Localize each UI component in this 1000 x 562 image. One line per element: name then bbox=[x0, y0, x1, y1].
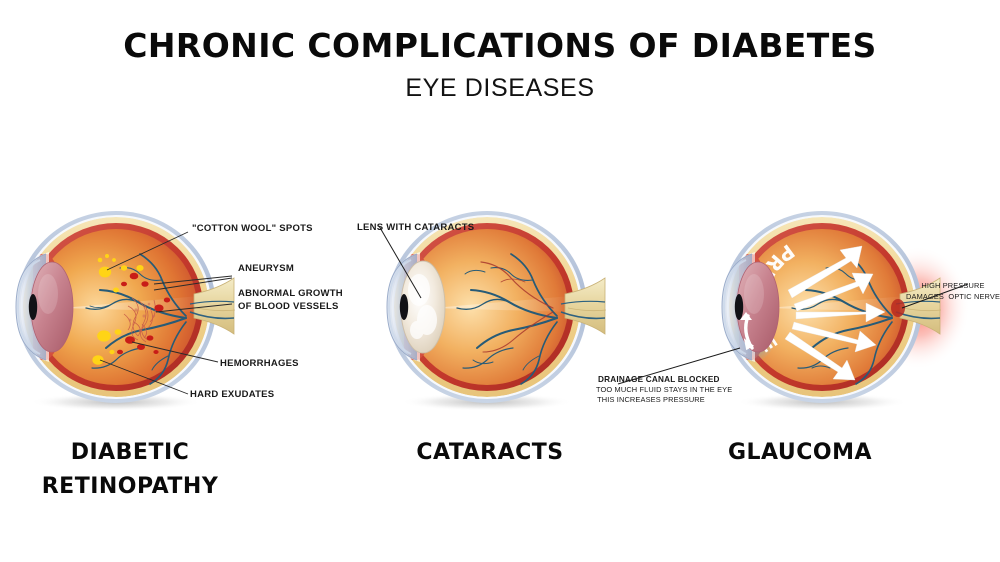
caption-glaucoma: GLAUCOMA bbox=[680, 436, 920, 470]
pupil bbox=[400, 294, 408, 320]
caption-line-1: CATARACTS bbox=[370, 436, 610, 470]
lens-highlight bbox=[38, 274, 58, 314]
caption-line-1: DIABETIC bbox=[10, 436, 250, 470]
label-drainage-detail-line2: THIS INCREASES PRESSURE bbox=[596, 395, 706, 405]
eye-diagram-cataracts bbox=[375, 212, 615, 412]
label-high-pressure-line1: HIGH PRESSURE bbox=[910, 281, 996, 291]
eye-diagram-glaucoma: PRESSURE bbox=[710, 212, 970, 412]
caption-diabetic-retinopathy: DIABETIC RETINOPATHY bbox=[10, 436, 250, 504]
illustration-canvas: CHRONIC COMPLICATIONS OF DIABETES EYE DI… bbox=[0, 0, 1000, 562]
label-lens-with-cataracts: LENS WITH CATARACTS bbox=[357, 222, 474, 235]
caption-line-1: GLAUCOMA bbox=[680, 436, 920, 470]
lens-highlight bbox=[744, 274, 764, 314]
label-high-pressure-line2: DAMAGES OPTIC NERVE bbox=[906, 292, 1000, 302]
label-hemorrhages: HEMORRHAGES bbox=[220, 358, 299, 371]
label-hard-exudates: HARD EXUDATES bbox=[190, 389, 274, 402]
label-aneurysm: ANEURYSM bbox=[238, 263, 294, 276]
label-abnormal-growth-line2: OF BLOOD VESSELS bbox=[238, 301, 339, 314]
pupil bbox=[735, 294, 743, 320]
caption-line-2: RETINOPATHY bbox=[10, 470, 250, 504]
label-abnormal-growth-line1: ABNORMAL GROWTH bbox=[238, 288, 343, 301]
eye-diagram-diabetic-retinopathy bbox=[4, 212, 244, 412]
page-subtitle: EYE DISEASES bbox=[0, 74, 1000, 103]
page-title: CHRONIC COMPLICATIONS OF DIABETES bbox=[0, 26, 1000, 65]
label-cotton-wool-spots: "COTTON WOOL" SPOTS bbox=[192, 223, 313, 236]
caption-cataracts: CATARACTS bbox=[370, 436, 610, 470]
label-drainage-detail-line1: TOO MUCH FLUID STAYS IN THE EYE bbox=[596, 385, 732, 395]
pupil bbox=[29, 294, 37, 320]
